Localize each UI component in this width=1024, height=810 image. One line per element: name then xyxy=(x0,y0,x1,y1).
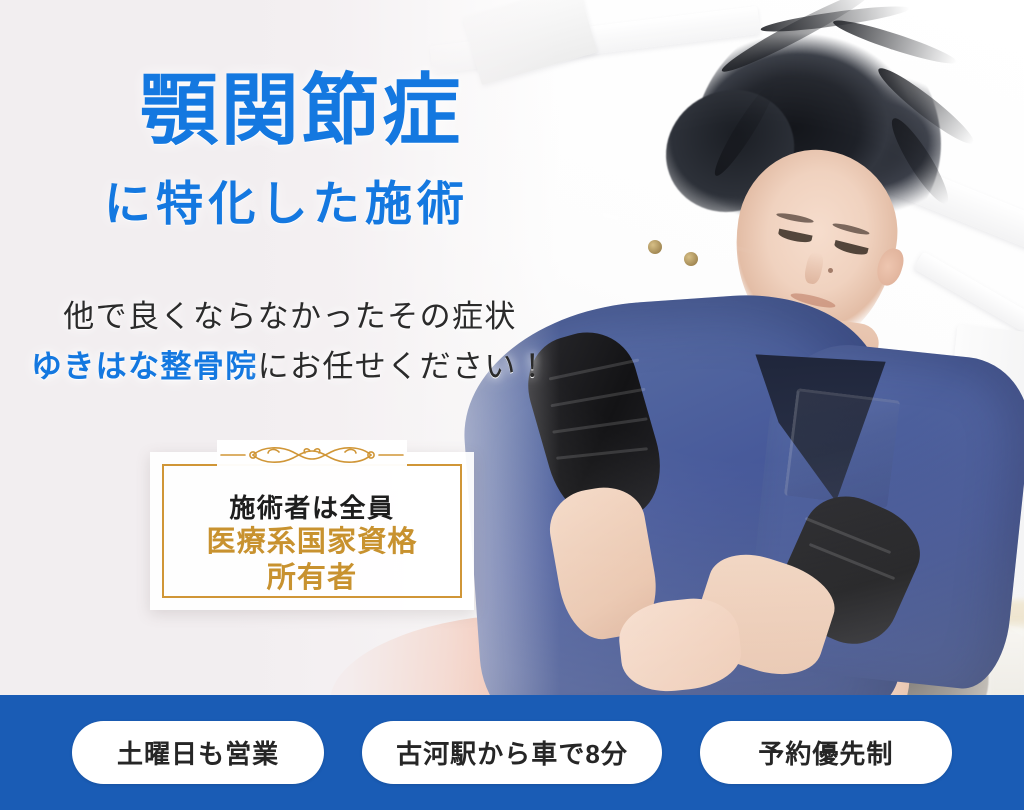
credential-badge: 施術者は全員 医療系国家資格 所有者 xyxy=(150,452,474,610)
clinic-name: ゆきはな整骨院 xyxy=(31,349,258,384)
scrub-pocket xyxy=(784,388,900,508)
feature-pill-reservation[interactable]: 予約優先制 xyxy=(700,721,952,784)
badge-text: 施術者は全員 医療系国家資格 所有者 xyxy=(150,492,474,596)
badge-line-3: 所有者 xyxy=(150,561,474,596)
scrub-snap-button xyxy=(684,252,698,266)
hero-lead-text: 他で良くならなかったその症状 ゆきはな整骨院にお任せください！ xyxy=(0,292,580,392)
feature-bar: 土曜日も営業 古河駅から車で8分 予約優先制 xyxy=(0,695,1024,810)
page-subtitle: に特化した施術 xyxy=(104,182,469,229)
hero-banner: 顎関節症 に特化した施術 他で良くならなかったその症状 ゆきはな整骨院にお任せく… xyxy=(0,0,1024,810)
badge-line-1: 施術者は全員 xyxy=(150,492,474,525)
lead-line-1: 他で良くならなかったその症状 xyxy=(0,292,580,342)
flourish-divider-icon xyxy=(217,440,407,470)
facial-mole xyxy=(828,268,833,273)
lead-line-2: ゆきはな整骨院にお任せください！ xyxy=(0,342,580,392)
page-title: 顎関節症 xyxy=(140,72,463,150)
feature-pill-saturday[interactable]: 土曜日も営業 xyxy=(72,721,324,784)
lead-line-2-rest: にお任せください！ xyxy=(258,349,550,384)
badge-line-2: 医療系国家資格 xyxy=(150,525,474,560)
feature-pill-access[interactable]: 古河駅から車で8分 xyxy=(362,721,662,784)
scrub-snap-button xyxy=(648,240,662,254)
